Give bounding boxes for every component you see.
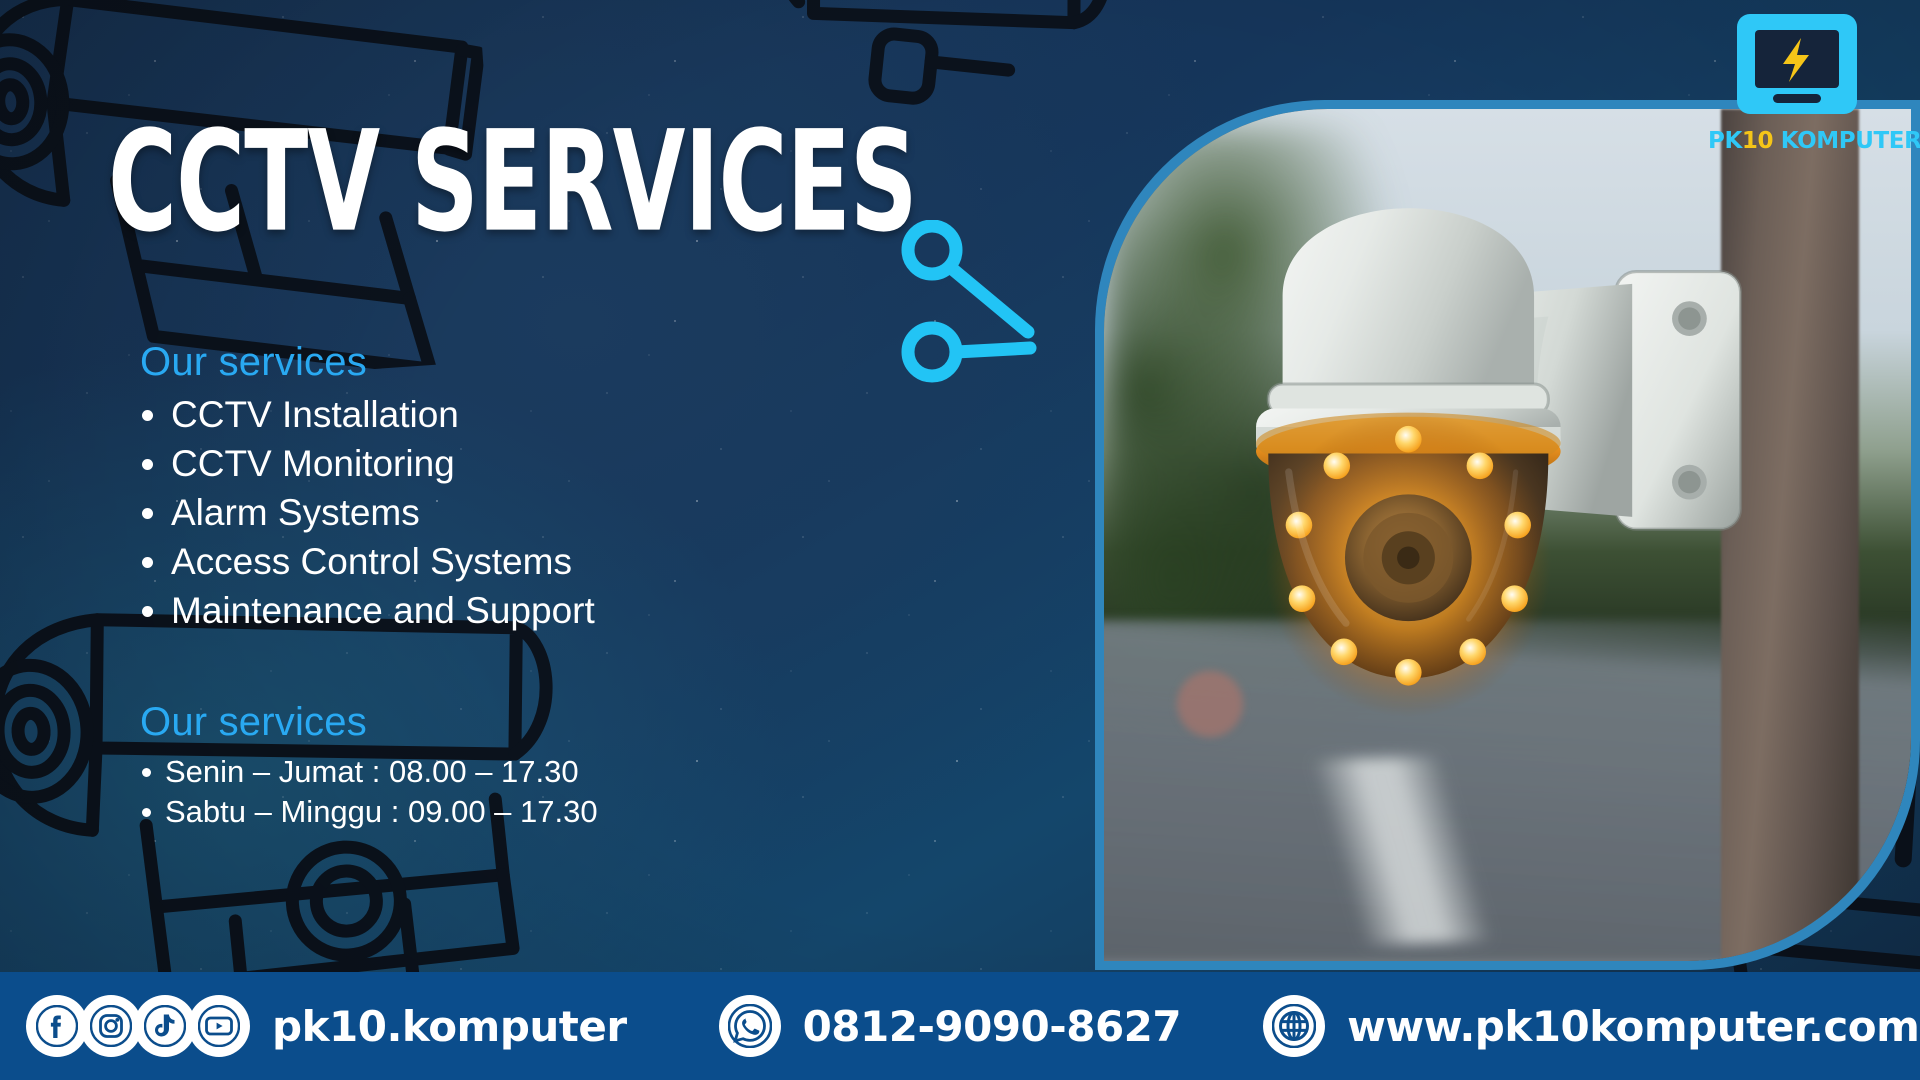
logo-suffix: KOMPUTER [1773,128,1920,154]
bullet-icon [142,508,153,519]
brand-logo[interactable]: PK10 KOMPUTER [1708,12,1886,154]
list-item: CCTV Installation [142,390,595,439]
cctv-services-banner: CCTV SERVICES Our services CCTV Installa… [0,0,1920,1080]
ptz-dome-cctv-camera-photo [1104,109,1911,961]
wall-bracket [1616,271,1741,529]
social-icons [26,995,250,1057]
monitor-lightning-icon [1733,12,1861,124]
page-title: CCTV SERVICES [108,116,917,250]
photo-frame [1095,100,1920,970]
list-item: Access Control Systems [142,537,595,586]
list-item: CCTV Monitoring [142,439,595,488]
bullet-icon [142,557,153,568]
bullet-icon [142,410,153,421]
list-item-label: CCTV Installation [171,390,459,439]
camera-dome [1265,410,1551,717]
bullet-icon [142,768,151,777]
youtube-icon[interactable] [188,995,250,1057]
hours-heading: Our services [140,700,367,745]
services-list: CCTV Installation CCTV Monitoring Alarm … [142,390,595,635]
instagram-icon[interactable] [80,995,142,1057]
website-url[interactable]: www.pk10komputer.com [1347,1002,1919,1051]
services-heading: Our services [140,340,367,385]
tiktok-icon[interactable] [134,995,196,1057]
list-item-label: Senin – Jumat : 08.00 – 17.30 [165,752,579,792]
phone-number[interactable]: 0812-9090-8627 [803,1002,1182,1051]
bullet-icon [142,808,151,817]
contact-footer: pk10.komputer 0812-9090-8627 [0,972,1920,1080]
list-item-label: Maintenance and Support [171,586,595,635]
phone-group: 0812-9090-8627 [719,995,1182,1057]
facebook-icon[interactable] [26,995,88,1057]
list-item-label: Sabtu – Minggu : 09.00 – 17.30 [165,792,598,832]
bullet-icon [142,459,153,470]
social-group: pk10.komputer [26,995,627,1057]
logo-highlight: 10 [1742,128,1773,154]
whatsapp-icon[interactable] [719,995,781,1057]
list-item: Senin – Jumat : 08.00 – 17.30 [142,752,598,792]
brand-logo-text: PK10 KOMPUTER [1708,128,1886,154]
node-connector-icon [900,220,1090,400]
list-item: Alarm Systems [142,488,595,537]
social-handle[interactable]: pk10.komputer [272,1002,627,1051]
logo-prefix: PK [1708,128,1742,154]
bullet-icon [142,606,153,617]
globe-icon[interactable] [1263,995,1325,1057]
dome-camera-illustration [1209,186,1822,782]
website-group: www.pk10komputer.com [1263,995,1919,1057]
list-item-label: CCTV Monitoring [171,439,455,488]
hours-list: Senin – Jumat : 08.00 – 17.30 Sabtu – Mi… [142,752,598,832]
list-item: Sabtu – Minggu : 09.00 – 17.30 [142,792,598,832]
list-item-label: Access Control Systems [171,537,572,586]
list-item-label: Alarm Systems [171,488,420,537]
list-item: Maintenance and Support [142,586,595,635]
